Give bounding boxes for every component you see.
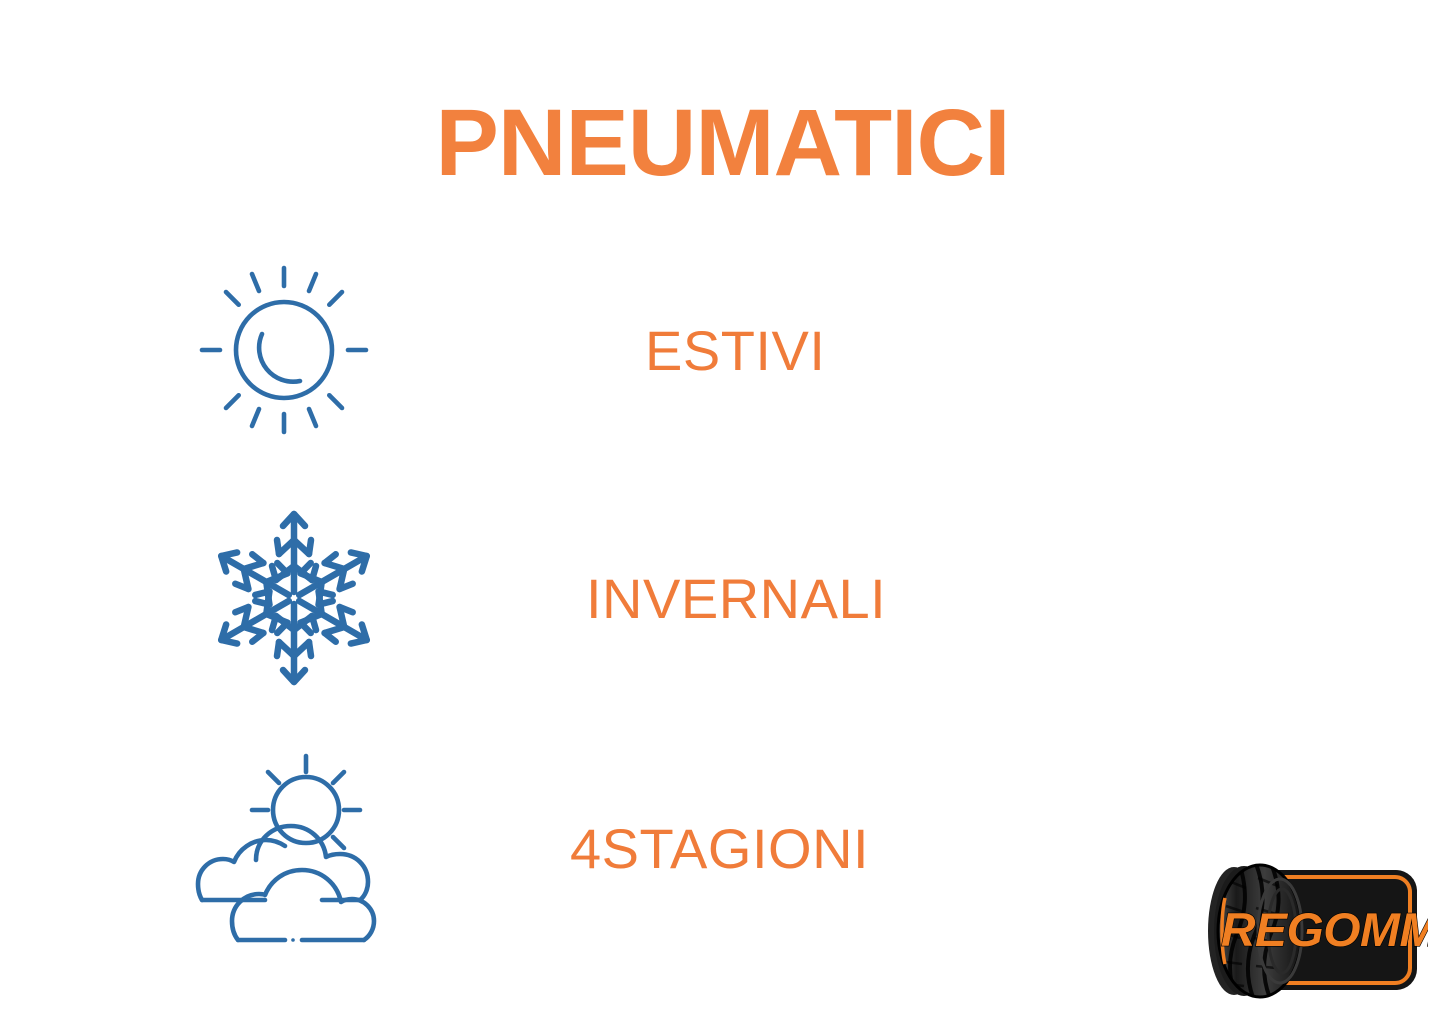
- tire-type-label-invernali: INVERNALI: [586, 498, 886, 698]
- snowflake-icon: [190, 498, 410, 698]
- tire-type-row-estivi: ESTIVI: [0, 250, 1445, 450]
- tire-type-label-4stagioni: 4STAGIONI: [570, 748, 869, 948]
- logo-text: REGOMMA: [1221, 904, 1428, 956]
- tire-type-label-estivi: ESTIVI: [645, 250, 825, 450]
- poster-canvas: PNEUMATICI: [0, 0, 1445, 1022]
- page-title: PNEUMATICI: [0, 96, 1445, 191]
- sun-behind-clouds-icon: [190, 748, 410, 948]
- brand-logo[interactable]: REGOMMA: [1196, 858, 1428, 1004]
- tire-type-row-invernali: INVERNALI: [0, 498, 1445, 698]
- sun-icon: [190, 250, 410, 450]
